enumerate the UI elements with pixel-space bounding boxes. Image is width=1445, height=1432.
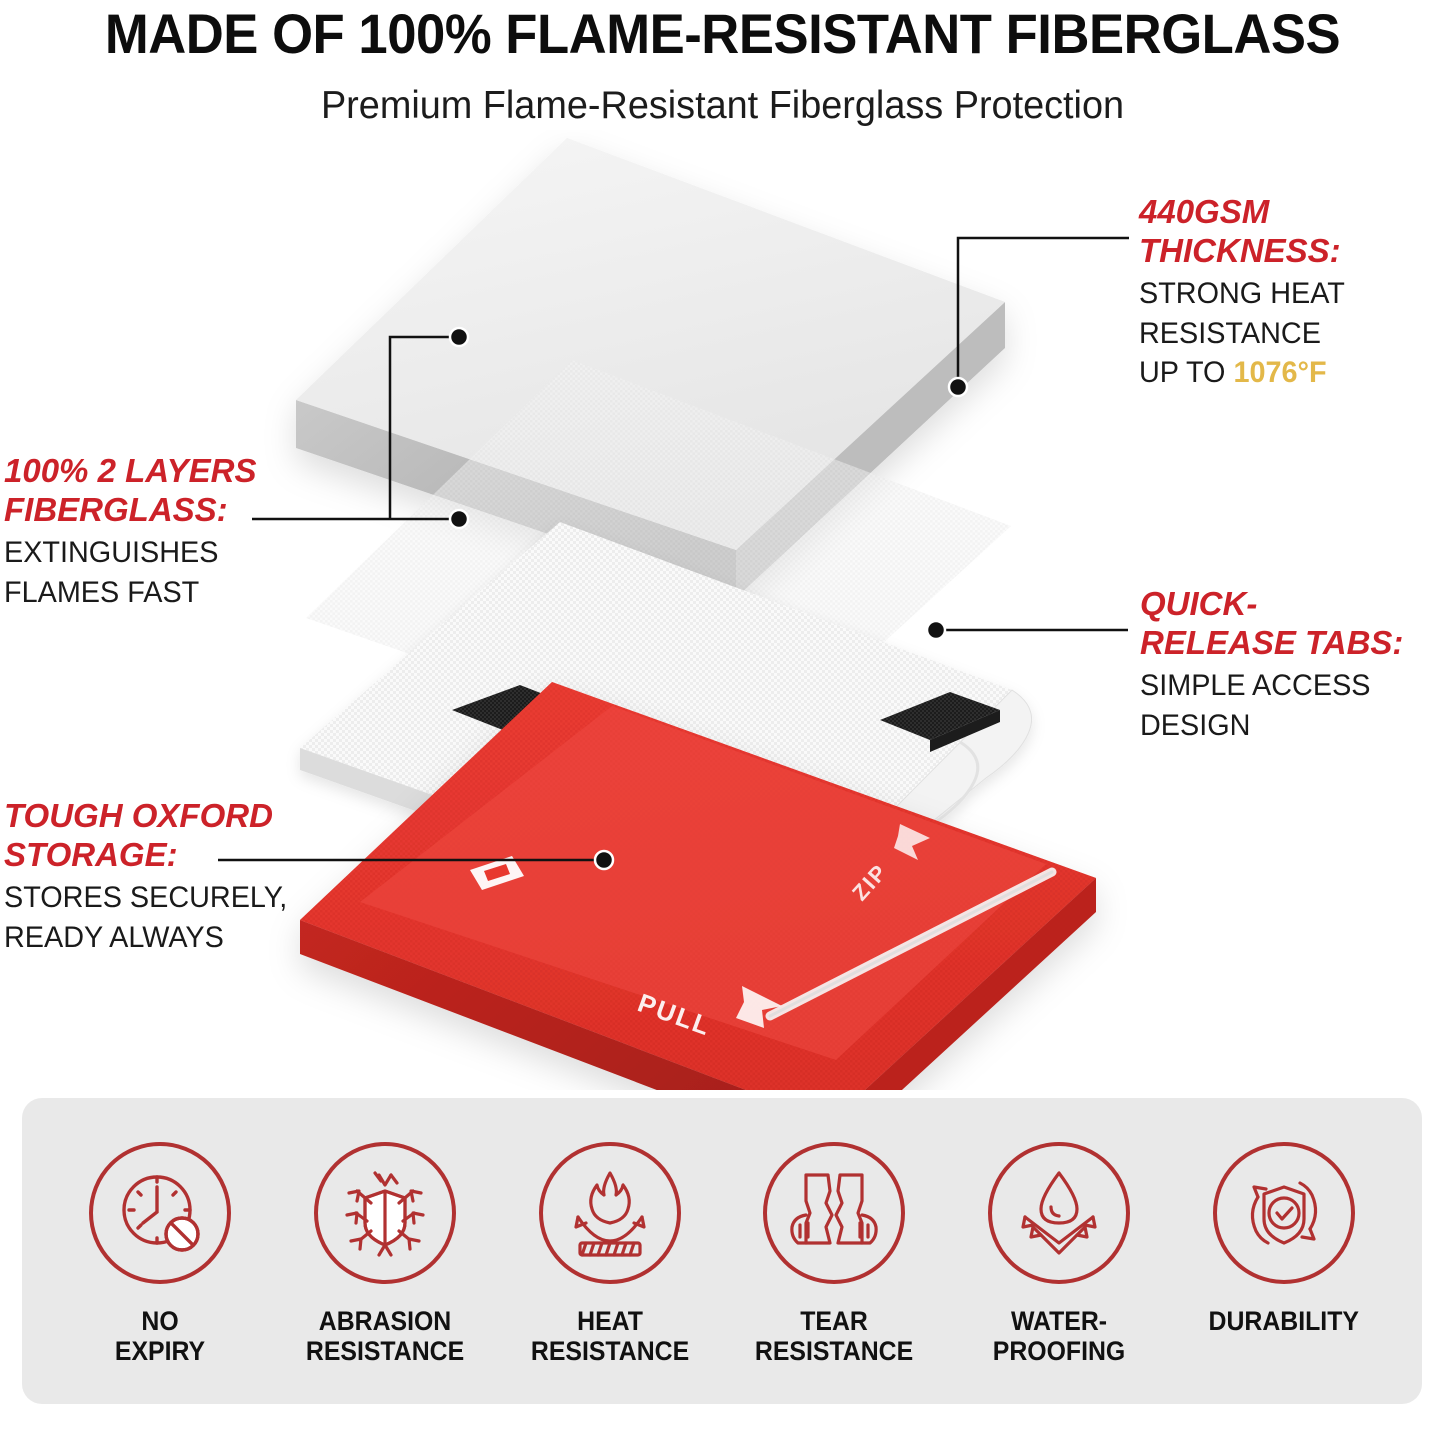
header: MADE OF 100% FLAME-RESISTANT FIBERGLASS … — [0, 0, 1445, 125]
feature-label: DURABILITY — [1208, 1306, 1358, 1336]
waterproof-droplet-icon — [988, 1142, 1130, 1284]
feature-durability: DURABILITY — [1179, 1098, 1389, 1336]
callout-thickness-heading: 440GSM THICKNESS: — [1139, 193, 1439, 270]
page-subtitle: Premium Flame-Resistant Fiberglass Prote… — [22, 62, 1424, 125]
callout-layers-heading: 100% 2 LAYERS FIBERGLASS: — [4, 452, 314, 529]
feature-heat-resistance: HEAT RESISTANCE — [505, 1098, 715, 1366]
callout-layers: 100% 2 LAYERS FIBERGLASS: EXTINGUISHES F… — [4, 452, 314, 612]
abrasion-shield-arrows-icon — [314, 1142, 456, 1284]
feature-label: WATER- PROOFING — [993, 1306, 1125, 1366]
callout-thickness-body: STRONG HEAT RESISTANCE UP TO 1076°F — [1139, 270, 1427, 392]
callout-storage: TOUGH OXFORD STORAGE: STORES SECURELY, R… — [4, 797, 334, 957]
feature-waterproofing: WATER- PROOFING — [954, 1098, 1164, 1366]
callout-layers-body: EXTINGUISHES FLAMES FAST — [4, 529, 302, 612]
feature-no-expiry: NO EXPIRY — [55, 1098, 265, 1366]
callout-thickness: 440GSM THICKNESS: STRONG HEAT RESISTANCE… — [1139, 193, 1439, 392]
feature-label: ABRASION RESISTANCE — [306, 1306, 464, 1366]
feature-row: NO EXPIRY — [22, 1098, 1422, 1404]
temperature-value: 1076°F — [1233, 356, 1326, 389]
heat-flame-barrier-icon — [539, 1142, 681, 1284]
feature-tear-resistance: TEAR RESISTANCE — [729, 1098, 939, 1366]
durability-shield-cycle-icon — [1213, 1142, 1355, 1284]
tear-hands-fabric-icon — [763, 1142, 905, 1284]
callout-tabs-heading: QUICK- RELEASE TABS: — [1140, 585, 1440, 662]
callout-tabs: QUICK- RELEASE TABS: SIMPLE ACCESS DESIG… — [1140, 585, 1440, 745]
callout-storage-heading: TOUGH OXFORD STORAGE: — [4, 797, 334, 874]
feature-label: HEAT RESISTANCE — [531, 1306, 689, 1366]
feature-label: TEAR RESISTANCE — [755, 1306, 913, 1366]
feature-panel: NO EXPIRY — [22, 1098, 1422, 1404]
callout-tabs-body: SIMPLE ACCESS DESIGN — [1140, 662, 1428, 745]
page-title: MADE OF 100% FLAME-RESISTANT FIBERGLASS — [43, 0, 1401, 62]
callout-storage-body: STORES SECURELY, READY ALWAYS — [4, 874, 321, 957]
no-expiry-clock-icon — [89, 1142, 231, 1284]
feature-label: NO EXPIRY — [115, 1306, 205, 1366]
feature-abrasion-resistance: ABRASION RESISTANCE — [280, 1098, 490, 1366]
